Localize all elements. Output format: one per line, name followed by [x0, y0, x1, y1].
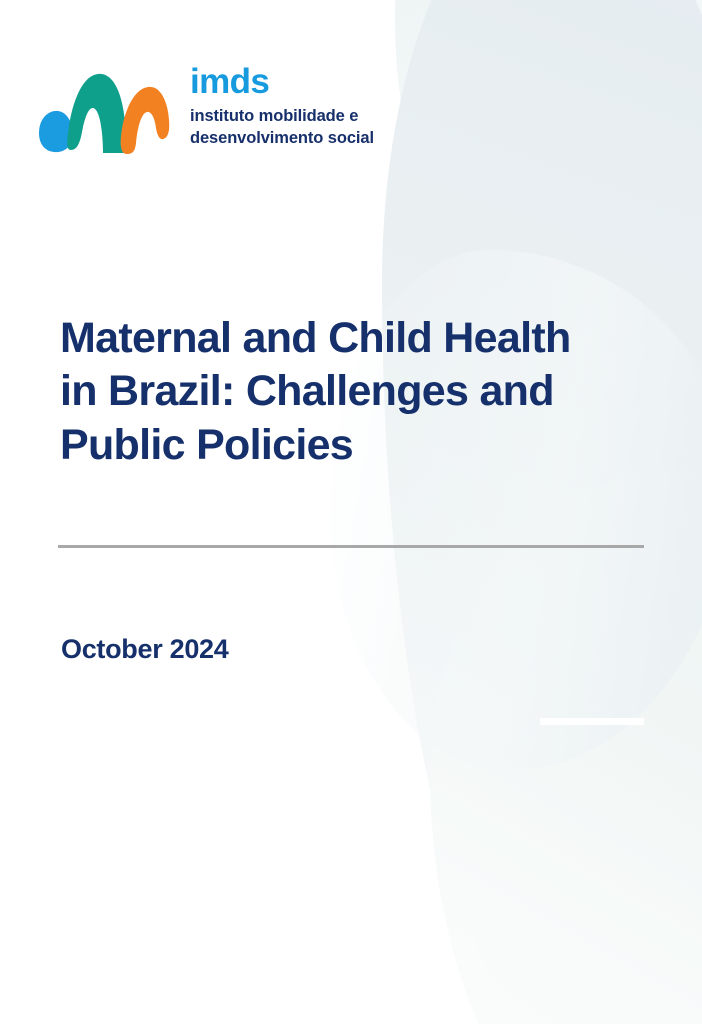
- imds-logo[interactable]: imds instituto mobilidade e desenvolvime…: [35, 58, 374, 158]
- decorative-column-right-edge: [382, 0, 702, 1024]
- imds-logo-text: imds instituto mobilidade e desenvolvime…: [190, 58, 374, 150]
- white-accent-bar: [540, 718, 644, 725]
- imds-tagline: instituto mobilidade e desenvolvimento s…: [190, 106, 374, 150]
- imds-wordmark: imds: [190, 64, 374, 99]
- title-divider: [58, 545, 644, 548]
- imds-wave-mark-icon: [35, 58, 177, 158]
- page-title: Maternal and Child Health in Brazil: Cha…: [60, 312, 702, 472]
- publication-date: October 2024: [61, 634, 228, 665]
- cover-page: imds instituto mobilidade e desenvolvime…: [0, 0, 702, 1024]
- decorative-sweep-bottom-right: [430, 470, 702, 1024]
